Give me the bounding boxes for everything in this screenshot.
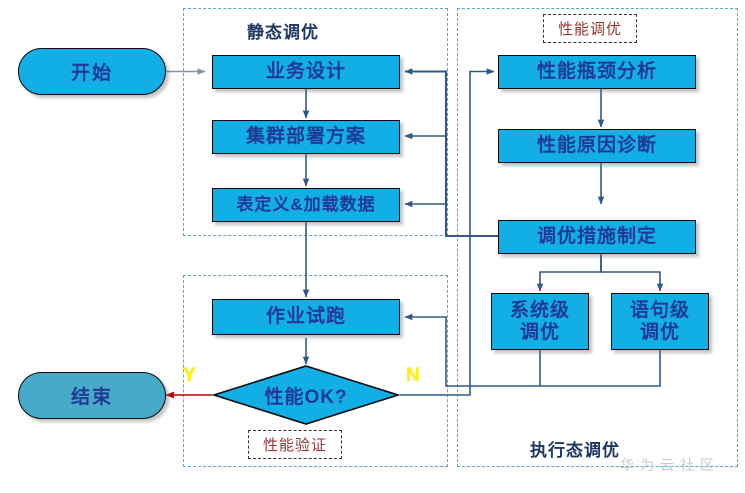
node-system-level-tuning-label-line1: 系统级 [510,300,570,322]
node-statement-level-tuning-label-line2: 调优 [640,322,680,344]
node-bottleneck-analysis-label: 性能瓶颈分析 [537,61,657,83]
node-system-level-tuning[interactable]: 系统级 调优 [491,293,589,350]
node-end[interactable]: 结束 [18,372,166,419]
node-cluster-deployment-plan[interactable]: 集群部署方案 [212,120,400,154]
edge-label-no: N [406,365,420,387]
node-end-label: 结束 [71,382,113,409]
node-system-level-tuning-label-line2: 调优 [520,322,560,344]
flowchart-canvas: 静态调优 性能调优 性能验证 执行态调优 [0,0,745,493]
node-tuning-measures[interactable]: 调优措施制定 [498,220,696,254]
node-table-definition-load-data[interactable]: 表定义&加载数据 [212,188,400,222]
node-cluster-deployment-plan-label: 集群部署方案 [246,126,366,148]
node-start-label: 开始 [71,58,113,85]
node-job-trial-run-label: 作业试跑 [266,306,346,328]
node-statement-level-tuning[interactable]: 语句级 调优 [611,293,709,350]
node-bottleneck-analysis[interactable]: 性能瓶颈分析 [498,55,696,89]
node-job-trial-run[interactable]: 作业试跑 [212,299,400,335]
node-root-cause-diagnosis-label: 性能原因诊断 [537,135,657,157]
node-statement-level-tuning-label-line1: 语句级 [630,300,690,322]
edge-label-yes: Y [183,365,196,387]
node-business-design-label: 业务设计 [266,61,346,83]
node-root-cause-diagnosis[interactable]: 性能原因诊断 [498,129,696,163]
watermark-text: 华为云社区 [620,455,720,475]
node-start[interactable]: 开始 [18,48,166,95]
node-performance-ok-decision[interactable]: 性能OK? [212,364,400,426]
node-business-design[interactable]: 业务设计 [212,55,400,89]
node-tuning-measures-label: 调优措施制定 [537,226,657,248]
diamond-shape [212,364,400,426]
node-table-definition-load-data-label: 表定义&加载数据 [236,195,375,215]
